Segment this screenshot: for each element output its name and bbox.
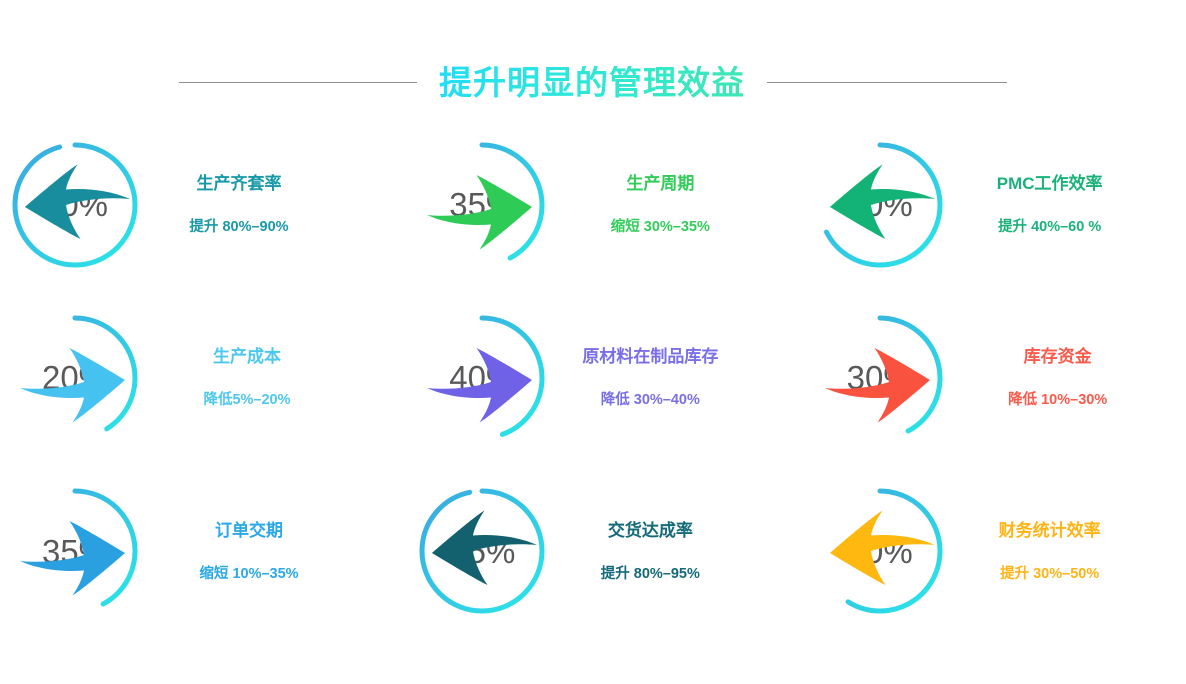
metric-labels: 交货达成率提升 80%–95% xyxy=(575,522,725,582)
metric-change: 缩短 10%–35% xyxy=(199,567,298,582)
metric-change: 降低 30%–40% xyxy=(601,393,700,408)
metric-card: 50%财务统计效率提升 30%–50% xyxy=(791,465,1186,638)
gauge-ring: 20% xyxy=(10,313,140,443)
gauge-center: 90% xyxy=(10,140,140,270)
metric-labels: 库存资金降低 10%–30% xyxy=(983,348,1133,408)
metric-labels: PMC工作效率提升 40%–60 % xyxy=(975,175,1125,235)
metric-change: 提升 80%–95% xyxy=(601,567,700,582)
gauge-ring: 35% xyxy=(417,140,547,270)
metric-change: 提升 30%–50% xyxy=(1000,567,1099,582)
gauge-center: 20% xyxy=(10,313,140,443)
gauge-center: 50% xyxy=(815,486,945,616)
metric-labels: 生产成本降低5%–20% xyxy=(172,348,322,408)
metric-name: 订单交期 xyxy=(215,522,283,539)
arrow-down-icon xyxy=(10,488,140,618)
metric-name: 生产成本 xyxy=(213,348,281,365)
gauge-ring: 40% xyxy=(417,313,547,443)
title-rule-left xyxy=(179,82,417,83)
gauge-ring: 35% xyxy=(10,486,140,616)
metric-name: 库存资金 xyxy=(1024,348,1092,365)
arrow-down-icon xyxy=(815,315,945,445)
metric-labels: 订单交期缩短 10%–35% xyxy=(174,522,324,582)
metric-card: 90%生产齐套率提升 80%–90% xyxy=(0,118,395,291)
metric-labels: 生产齐套率提升 80%–90% xyxy=(164,175,314,235)
metric-change: 降低5%–20% xyxy=(203,393,290,408)
metric-change: 提升 80%–90% xyxy=(189,220,288,235)
metrics-grid: 90%生产齐套率提升 80%–90%35%生产周期缩短 30%–35%60%PM… xyxy=(0,118,1186,638)
metric-card: 60%PMC工作效率提升 40%–60 % xyxy=(791,118,1186,291)
metric-card: 35%订单交期缩短 10%–35% xyxy=(0,465,395,638)
page-title: 提升明显的管理效益 xyxy=(439,66,745,99)
slide-canvas: 提升明显的管理效益 90%生产齐套率提升 80%–90%35%生产周期缩短 30… xyxy=(0,0,1186,684)
metric-labels: 财务统计效率提升 30%–50% xyxy=(975,522,1125,582)
metric-labels: 原材料在制品库存降低 30%–40% xyxy=(575,348,725,408)
metric-card: 40%原材料在制品库存降低 30%–40% xyxy=(395,291,790,464)
gauge-ring: 60% xyxy=(815,140,945,270)
metric-name: 生产齐套率 xyxy=(197,175,282,192)
header: 提升明显的管理效益 xyxy=(0,56,1186,108)
metric-name: 交货达成率 xyxy=(608,522,693,539)
metric-change: 提升 40%–60 % xyxy=(998,220,1101,235)
gauge-ring: 95% xyxy=(417,486,547,616)
arrow-up-icon xyxy=(417,488,547,618)
arrow-up-icon xyxy=(815,142,945,272)
gauge-center: 95% xyxy=(417,486,547,616)
gauge-center: 60% xyxy=(815,140,945,270)
arrow-down-icon xyxy=(10,315,140,445)
gauge-center: 35% xyxy=(417,140,547,270)
metric-card: 95%交货达成率提升 80%–95% xyxy=(395,465,790,638)
metric-name: 财务统计效率 xyxy=(999,522,1101,539)
arrow-up-icon xyxy=(815,488,945,618)
arrow-down-icon xyxy=(417,315,547,445)
arrow-down-icon xyxy=(417,142,547,272)
metric-labels: 生产周期缩短 30%–35% xyxy=(585,175,735,235)
gauge-center: 35% xyxy=(10,486,140,616)
metric-change: 降低 10%–30% xyxy=(1008,393,1107,408)
gauge-ring: 50% xyxy=(815,486,945,616)
metric-name: 原材料在制品库存 xyxy=(582,348,718,365)
gauge-ring: 90% xyxy=(10,140,140,270)
title-rule-right xyxy=(767,82,1007,83)
metric-change: 缩短 30%–35% xyxy=(611,220,710,235)
metric-name: 生产周期 xyxy=(626,175,694,192)
metric-card: 35%生产周期缩短 30%–35% xyxy=(395,118,790,291)
metric-name: PMC工作效率 xyxy=(997,175,1103,192)
gauge-ring: 30% xyxy=(815,313,945,443)
metric-card: 20%生产成本降低5%–20% xyxy=(0,291,395,464)
gauge-center: 30% xyxy=(815,313,945,443)
arrow-up-icon xyxy=(10,142,140,272)
gauge-center: 40% xyxy=(417,313,547,443)
metric-card: 30%库存资金降低 10%–30% xyxy=(791,291,1186,464)
